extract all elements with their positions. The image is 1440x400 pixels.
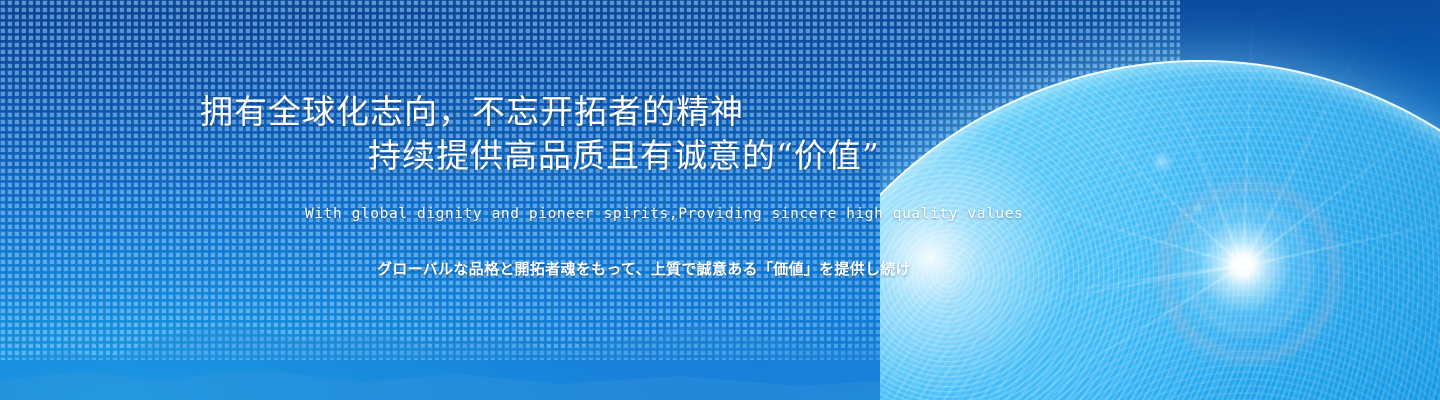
subtitle-english: With global dignity and pioneer spirits,… <box>305 206 1023 222</box>
hero-banner: 拥有全球化志向，不忘开拓者的精神 持续提供高品质且有诚意的“价值” With g… <box>0 0 1440 400</box>
headline-line-1: 拥有全球化志向，不忘开拓者的精神 <box>200 92 744 131</box>
subtitle-japanese: グローバルな品格と開拓者魂をもって、上質で誠意ある「価値」を提供し続け <box>377 258 911 279</box>
lens-flare-dot-secondary <box>1192 202 1205 215</box>
headline: 拥有全球化志向，不忘开拓者的精神 持续提供高品质且有诚意的“价值” <box>200 90 880 178</box>
sun-core-glow <box>1113 135 1373 395</box>
lens-flare-dot <box>1151 151 1173 173</box>
headline-line-2: 持续提供高品质且有诚意的“价值” <box>200 134 880 178</box>
